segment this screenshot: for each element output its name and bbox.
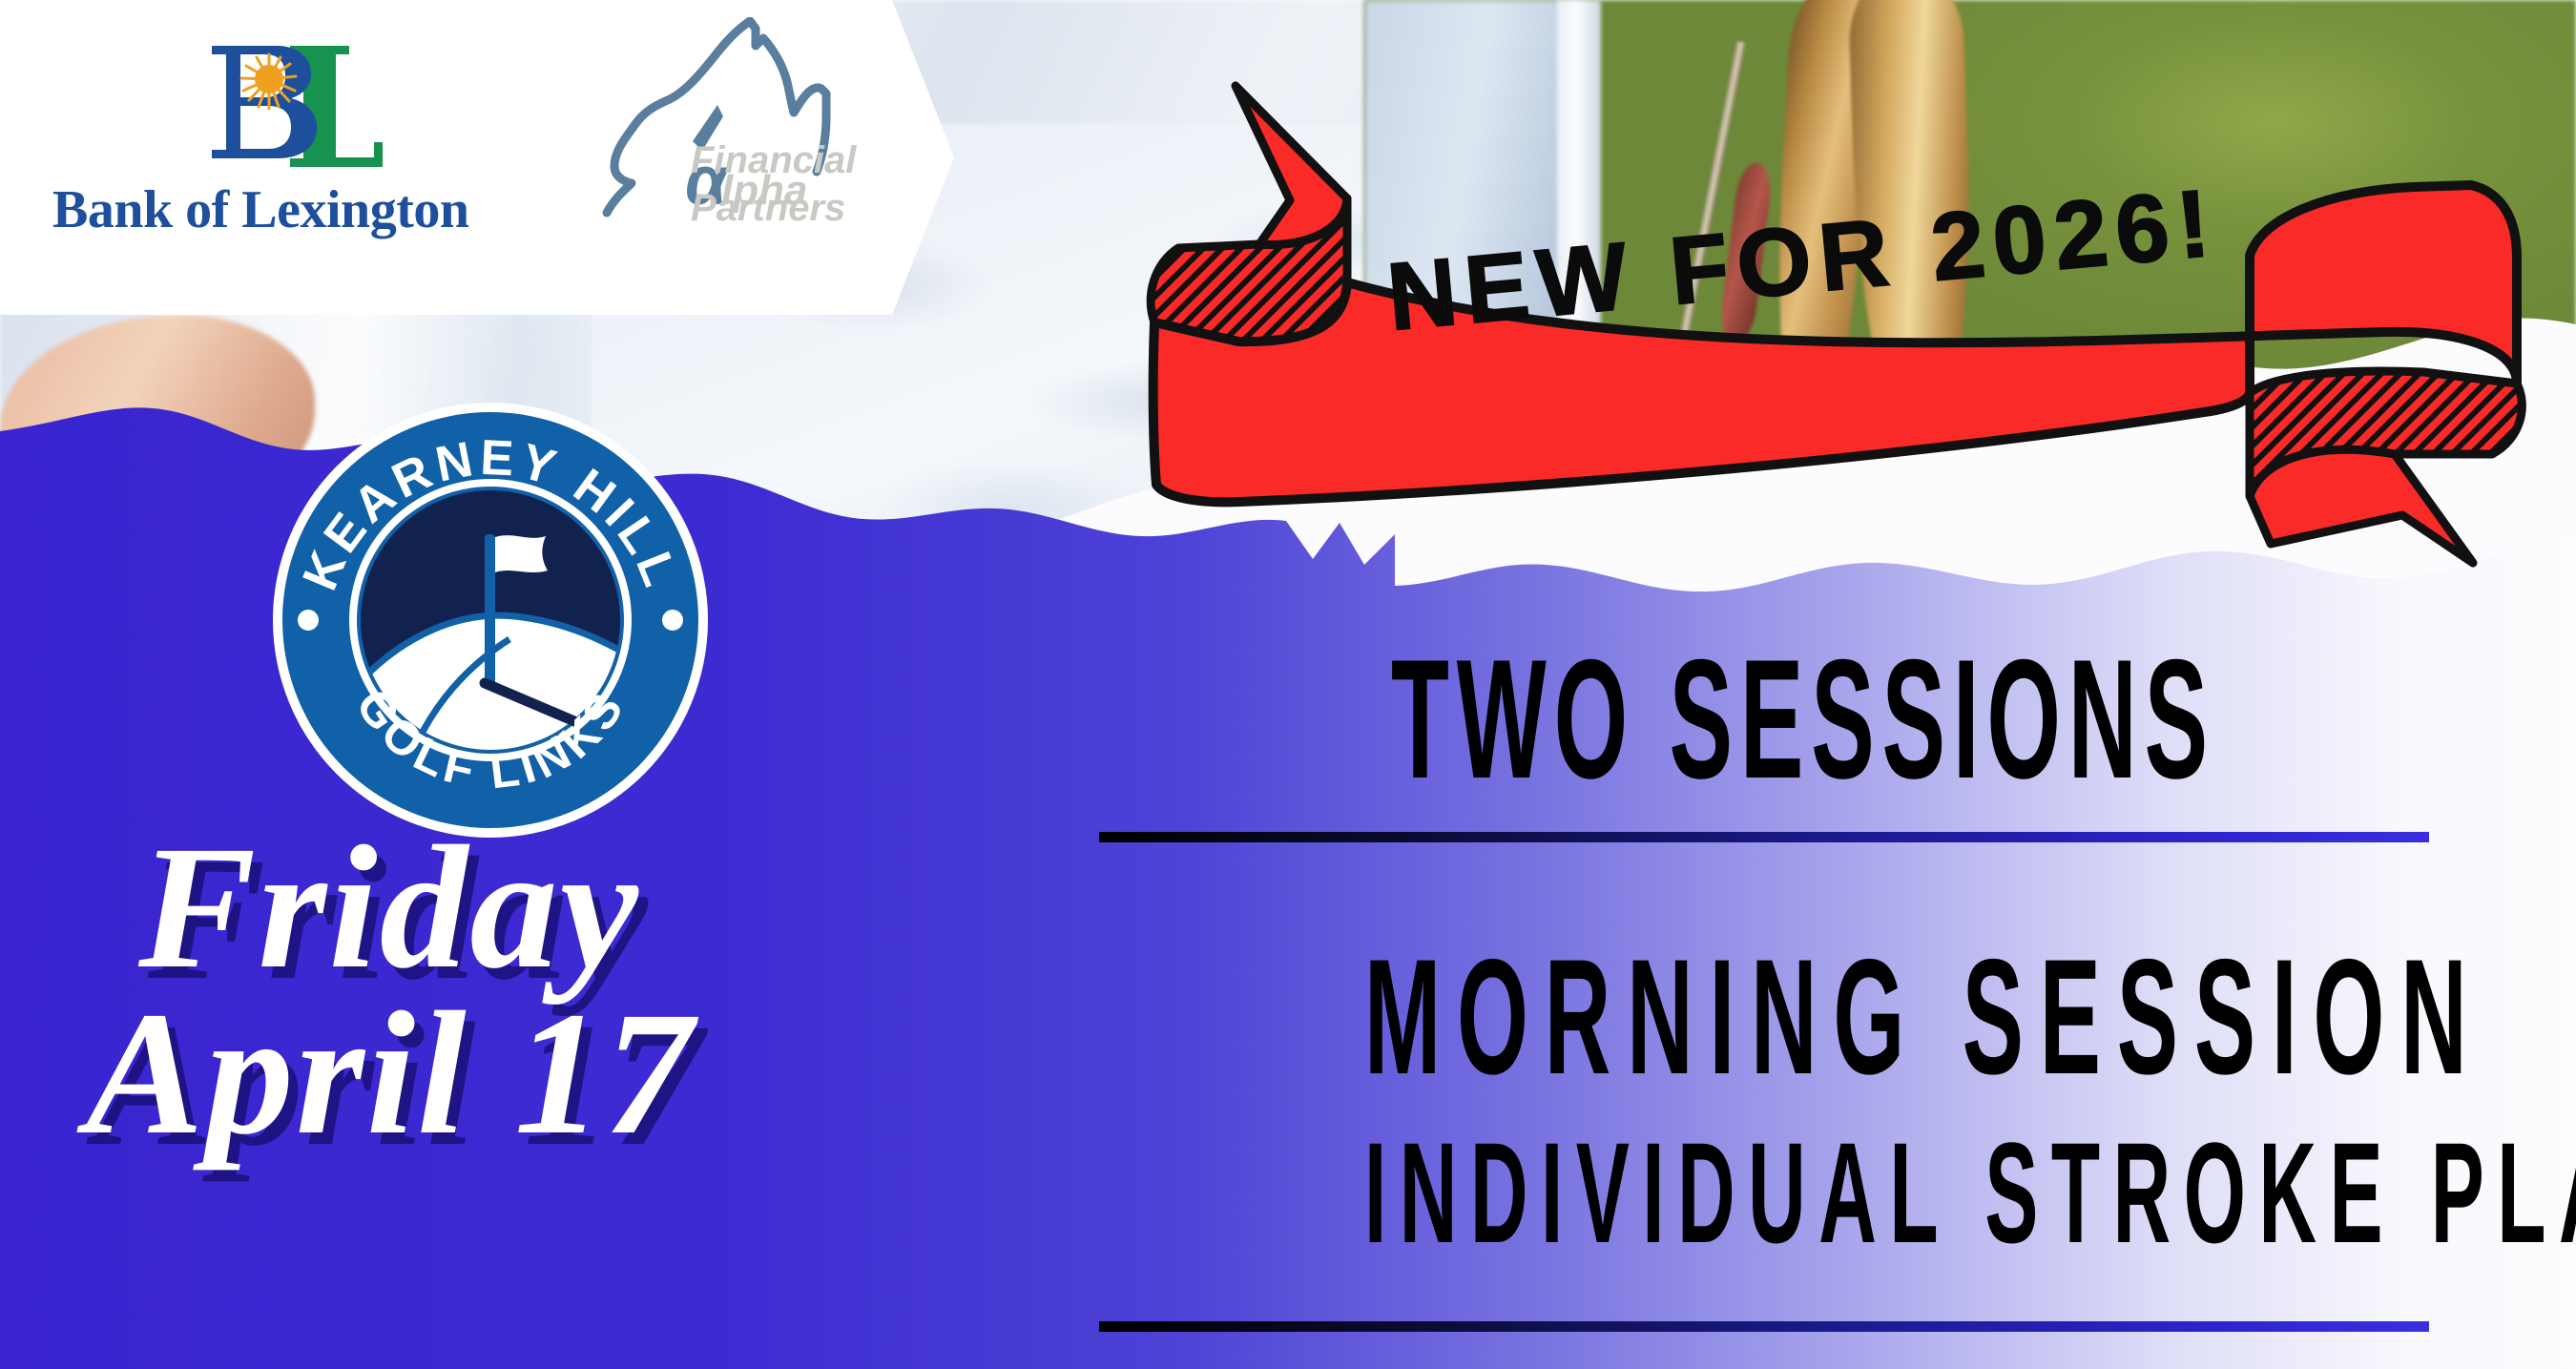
event-poster: Bank of Lexington α lpha Financial Partn… (0, 0, 2576, 1369)
divider-top (1099, 832, 2429, 842)
session-heading: MORNING SESSION (1364, 935, 2166, 1099)
alpha-word-partners: Partners (691, 187, 845, 230)
page-title: TWO SESSIONS (1391, 634, 2139, 804)
kearney-hill-golf-links-badge: KEARNEY HILL GOLF LINKS (269, 399, 713, 842)
new-for-2026-ribbon (1126, 57, 2576, 591)
bank-of-lexington-monogram (198, 40, 384, 183)
divider-bottom (1099, 1321, 2429, 1332)
alpha-word-financial: Financial (691, 139, 856, 182)
session-format: INDIVIDUAL STROKE PLAY (1364, 1121, 2166, 1264)
bank-of-lexington-name: Bank of Lexington (52, 179, 530, 240)
